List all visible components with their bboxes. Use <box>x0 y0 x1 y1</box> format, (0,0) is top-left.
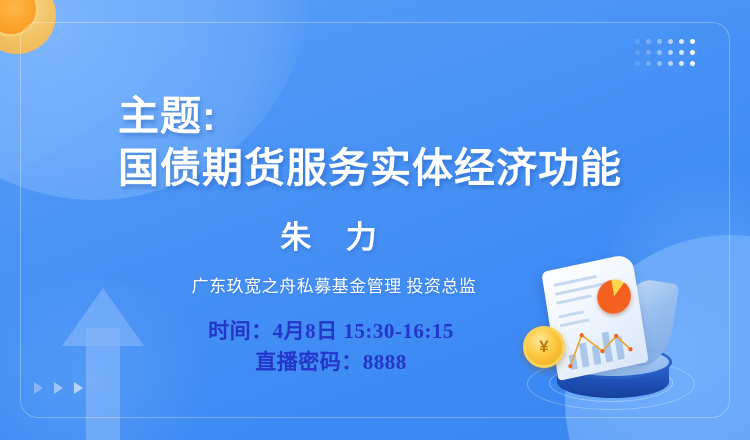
financial-report-illustration: ¥ <box>523 252 698 412</box>
promo-poster: 主题: 国债期货服务实体经济功能 朱 力 广东玖宽之舟私募基金管理 投资总监 时… <box>0 0 750 440</box>
document-text-line <box>556 294 592 304</box>
title-line-2: 国债期货服务实体经济功能 <box>118 142 678 194</box>
page-title: 主题: 国债期货服务实体经济功能 <box>118 90 678 194</box>
document-text-line <box>558 310 584 318</box>
title-line-1: 主题: <box>118 90 678 142</box>
gold-coin-icon: ¥ <box>523 326 565 368</box>
speaker-name: 朱 力 <box>0 212 750 257</box>
